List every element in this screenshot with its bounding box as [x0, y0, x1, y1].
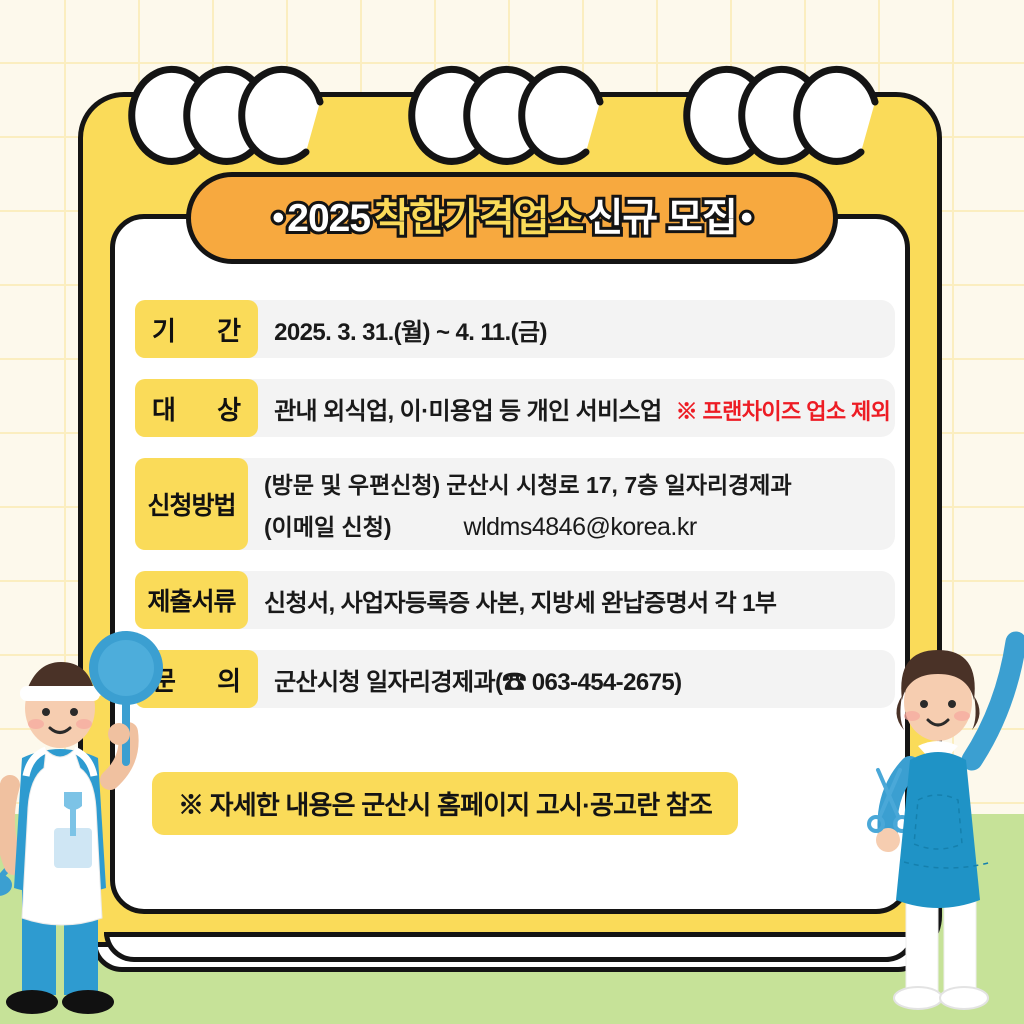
row-value-target: 관내 외식업, 이·미용업 등 개인 서비스업	[274, 398, 661, 425]
hairdresser-character	[848, 630, 1024, 1024]
title-tail: 신규 모집	[587, 199, 736, 238]
row-label-apply: 신청방법	[135, 458, 248, 550]
chef-eye-right	[70, 708, 78, 716]
page-edge-front	[104, 932, 916, 962]
title-bullet-right: •	[741, 201, 752, 235]
frying-pan-icon	[89, 631, 163, 766]
stylist-cheek-right	[954, 711, 970, 721]
row-label-period: 기 간	[135, 300, 258, 358]
row-period: 기 간 2025. 3. 31.(월) ~ 4. 11.(금)	[135, 300, 895, 358]
chef-headband	[20, 686, 100, 701]
row-value-wrap: (방문 및 우편신청) 군산시 시청로 17, 7층 일자리경제과 (이메일 신…	[248, 458, 895, 550]
chef-hand-right	[108, 723, 130, 745]
poster-title-text: • 2025 착한가격업소 신규 모집 •	[272, 199, 751, 238]
chef-cheek-right	[76, 719, 92, 729]
row-contact: 문 의 군산시청 일자리경제과(☎ 063-454-2675)	[135, 650, 895, 708]
stylist-eye-left	[920, 700, 928, 708]
row-value-period: 2025. 3. 31.(월) ~ 4. 11.(금)	[274, 312, 895, 347]
spiral-ring-icon	[522, 69, 600, 161]
row-apply-method: 신청방법 (방문 및 우편신청) 군산시 시청로 17, 7층 일자리경제과 (…	[135, 458, 895, 550]
chef-character	[0, 630, 167, 1024]
row-value-target-line: 관내 외식업, 이·미용업 등 개인 서비스업※ 프랜차이즈 업소 제외	[274, 391, 895, 426]
row-value-wrap: 신청서, 사업자등록증 사본, 지방세 완납증명서 각 1부	[248, 571, 895, 629]
poster-title-banner: • 2025 착한가격업소 신규 모집 •	[186, 172, 838, 264]
apply-email-value[interactable]: wldms4846@korea.kr	[464, 513, 697, 542]
apply-visit-label: (방문 및 우편신청)	[264, 466, 440, 500]
stylist-hair-side-left	[896, 696, 904, 730]
title-year: 2025	[287, 199, 370, 238]
row-value-contact: 군산시청 일자리경제과(☎ 063-454-2675)	[274, 662, 895, 697]
stylist-apron	[896, 752, 980, 908]
apply-line-visit: (방문 및 우편신청) 군산시 시청로 17, 7층 일자리경제과	[264, 466, 895, 500]
title-highlight: 착한가격업소	[374, 199, 583, 238]
row-value-wrap: 관내 외식업, 이·미용업 등 개인 서비스업※ 프랜차이즈 업소 제외	[258, 379, 895, 437]
row-value-wrap: 군산시청 일자리경제과(☎ 063-454-2675)	[258, 650, 895, 708]
row-value-documents: 신청서, 사업자등록증 사본, 지방세 완납증명서 각 1부	[264, 583, 895, 618]
spiral-ring-icon	[797, 69, 875, 161]
chef-cheek-left	[28, 719, 44, 729]
row-note-target: ※ 프랜차이즈 업소 제외	[676, 399, 891, 424]
stylist-arm-raised	[972, 642, 1016, 760]
chef-shoe-right	[62, 990, 114, 1014]
row-value-wrap: 2025. 3. 31.(월) ~ 4. 11.(금)	[258, 300, 895, 358]
apply-line-email: (이메일 신청) wldms4846@korea.kr	[264, 508, 895, 542]
chef-arm-left	[5, 785, 14, 865]
title-bullet-left: •	[272, 201, 283, 235]
spiral-binding	[0, 0, 1024, 200]
spiral-ring-icon	[242, 69, 320, 161]
chef-shoe-left	[6, 990, 58, 1014]
chef-eye-left	[42, 708, 50, 716]
stylist-shoe-right	[940, 987, 988, 1009]
footer-note: ※ 자세한 내용은 군산시 홈페이지 고시·공고란 참조	[152, 772, 738, 835]
stylist-hair-side-right	[972, 696, 980, 730]
row-target: 대 상 관내 외식업, 이·미용업 등 개인 서비스업※ 프랜차이즈 업소 제외	[135, 379, 895, 437]
row-documents: 제출서류 신청서, 사업자등록증 사본, 지방세 완납증명서 각 1부	[135, 571, 895, 629]
row-label-documents: 제출서류	[135, 571, 248, 629]
info-rows: 기 간 2025. 3. 31.(월) ~ 4. 11.(금) 대 상 관내 외…	[135, 300, 895, 729]
stylist-shoe-left	[894, 987, 942, 1009]
row-label-target: 대 상	[135, 379, 258, 437]
apply-visit-value: 군산시 시청로 17, 7층 일자리경제과	[446, 466, 791, 500]
apply-email-label: (이메일 신청)	[264, 508, 392, 542]
stylist-cheek-left	[904, 711, 920, 721]
stylist-eye-right	[948, 700, 956, 708]
